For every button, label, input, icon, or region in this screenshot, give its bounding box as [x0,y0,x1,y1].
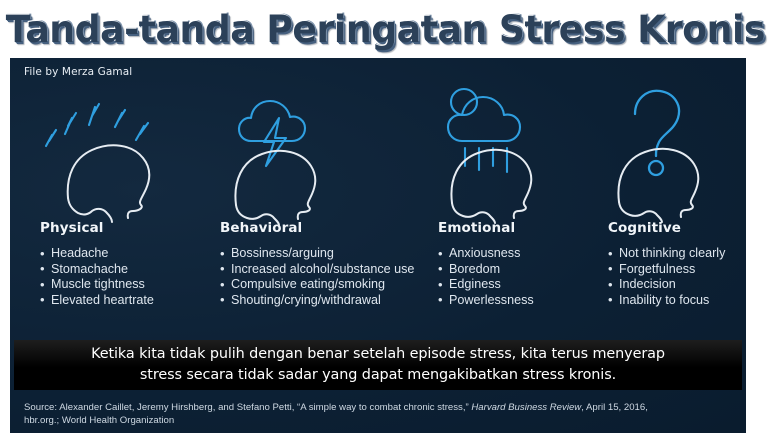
head-with-lightning-bolts-icon [26,80,196,220]
head-with-question-mark-icon [594,80,746,220]
symptom-list-cognitive: Not thinking clearly Forgetfulness Indec… [608,246,746,308]
list-item: Compulsive eating/smoking [220,277,406,293]
list-item: Muscle tightness [40,277,196,293]
title-bar: Tanda-tanda Peringatan Stress Kronis [0,0,770,58]
list-item: Edginess [438,277,584,293]
list-item: Elevated heartrate [40,293,196,309]
symptom-list-physical: Headache Stomachache Muscle tightness El… [40,246,196,308]
caption-band: Ketika kita tidak pulih dengan benar set… [14,340,742,390]
category-heading: Emotional [438,220,584,236]
head-with-rain-cloud-icon [424,80,584,220]
category-column-emotional: Emotional Anxiousness Boredom Edginess P… [406,80,584,308]
source-citation: Source: Alexander Caillet, Jeremy Hirshb… [24,402,744,427]
list-item: Indecision [608,277,746,293]
category-column-behavioral: Behavioral Bossiness/arguing Increased a… [196,80,406,308]
infographic-root: Tanda-tanda Peringatan Stress Kronis Fil… [0,0,770,433]
list-item: Increased alcohol/substance use [220,262,406,278]
symptom-list-emotional: Anxiousness Boredom Edginess Powerlessne… [438,246,584,308]
list-item: Powerlessness [438,293,584,309]
source-line-1: Source: Alexander Caillet, Jeremy Hirshb… [24,402,744,415]
source-text-part1: Source: Alexander Caillet, Jeremy Hirshb… [24,402,471,413]
source-line-2: hbr.org.; World Health Organization [24,415,744,428]
byline: File by Merza Gamal [24,66,132,78]
caption-line-1: Ketika kita tidak pulih dengan benar set… [91,344,665,365]
list-item: Headache [40,246,196,262]
category-heading: Cognitive [608,220,746,236]
list-item: Boredom [438,262,584,278]
list-item: Shouting/crying/withdrawal [220,293,406,309]
list-item: Inability to focus [608,293,746,309]
list-item: Bossiness/arguing [220,246,406,262]
page-title: Tanda-tanda Peringatan Stress Kronis [5,11,764,48]
category-columns: Physical Headache Stomachache Muscle tig… [10,80,746,308]
caption-line-2: stress secara tidak sadar yang dapat men… [140,365,616,386]
symptom-list-behavioral: Bossiness/arguing Increased alcohol/subs… [220,246,406,308]
list-item: Not thinking clearly [608,246,746,262]
source-text-part2: , April 15, 2016, [581,402,648,413]
category-heading: Physical [40,220,196,236]
category-column-physical: Physical Headache Stomachache Muscle tig… [10,80,196,308]
source-publication: Harvard Business Review [471,402,581,413]
head-with-storm-cloud-icon [206,80,406,220]
list-item: Forgetfulness [608,262,746,278]
category-heading: Behavioral [220,220,406,236]
list-item: Stomachache [40,262,196,278]
category-column-cognitive: Cognitive Not thinking clearly Forgetful… [584,80,746,308]
list-item: Anxiousness [438,246,584,262]
